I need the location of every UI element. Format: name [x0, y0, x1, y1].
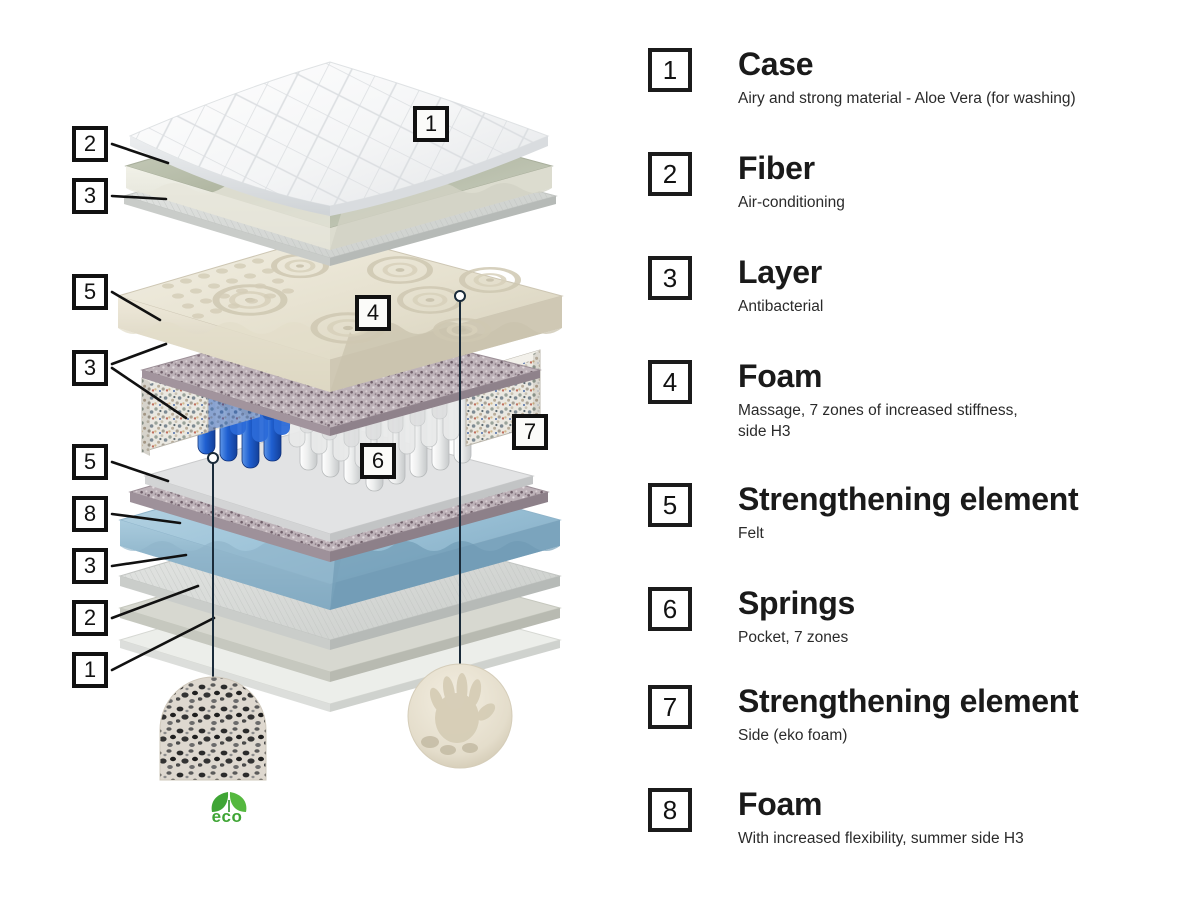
- legend-number-8: 8: [648, 788, 692, 832]
- legend-title-8: Foam: [738, 788, 1024, 820]
- legend-sub-8: With increased flexibility, summer side …: [738, 829, 1024, 850]
- legend-item-7[interactable]: 7 Strengthening element Side (eko foam): [648, 685, 1188, 747]
- callout-art-6[interactable]: 6: [360, 443, 396, 479]
- legend-number-label: 1: [663, 57, 677, 83]
- callout-art-7[interactable]: 7: [512, 414, 548, 450]
- legend-number-label: 8: [663, 797, 677, 823]
- legend-number-4: 4: [648, 360, 692, 404]
- legend-item-3[interactable]: 3 Layer Antibacterial: [648, 256, 1188, 318]
- legend-sub-4: Massage, 7 zones of increased stiffness,…: [738, 401, 1018, 443]
- legend-sub-2: Air-conditioning: [738, 193, 845, 214]
- callout-label: 3: [84, 357, 96, 379]
- legend-number-7: 7: [648, 685, 692, 729]
- legend-text-8: Foam With increased flexibility, summer …: [738, 788, 1024, 850]
- legend-text-4: Foam Massage, 7 zones of increased stiff…: [738, 360, 1018, 443]
- legend-number-2: 2: [648, 152, 692, 196]
- legend-number-label: 2: [663, 161, 677, 187]
- legend-sub-6: Pocket, 7 zones: [738, 628, 855, 649]
- legend-title-4: Foam: [738, 360, 1018, 392]
- callout-left-3b[interactable]: 3: [72, 350, 108, 386]
- callout-left-3a[interactable]: 3: [72, 178, 108, 214]
- callout-label: 4: [367, 302, 379, 324]
- legend-item-2[interactable]: 2 Fiber Air-conditioning: [648, 152, 1188, 214]
- legend-title-1: Case: [738, 48, 1076, 80]
- legend-number-label: 5: [663, 492, 677, 518]
- legend-number-label: 3: [663, 265, 677, 291]
- callout-label: 3: [84, 555, 96, 577]
- legend-title-3: Layer: [738, 256, 823, 288]
- legend-text-1: Case Airy and strong material - Aloe Ver…: [738, 48, 1076, 110]
- legend-title-6: Springs: [738, 587, 855, 619]
- callout-label: 8: [84, 503, 96, 525]
- callout-label: 1: [84, 659, 96, 681]
- callout-label: 2: [84, 133, 96, 155]
- legend-text-5: Strengthening element Felt: [738, 483, 1078, 545]
- callout-label: 5: [84, 281, 96, 303]
- legend-item-8[interactable]: 8 Foam With increased flexibility, summe…: [648, 788, 1188, 850]
- callout-label: 7: [524, 421, 536, 443]
- legend-sub-3: Antibacterial: [738, 297, 823, 318]
- mattress-layer-diagram-page: 2 3 5 3 5 8 3 2 1 1 4 6 7 eco 1 Case Air…: [0, 0, 1200, 899]
- callout-left-5b[interactable]: 5: [72, 444, 108, 480]
- legend-number-5: 5: [648, 483, 692, 527]
- eco-badge: eco: [196, 786, 258, 828]
- legend-number-3: 3: [648, 256, 692, 300]
- legend-title-5: Strengthening element: [738, 483, 1078, 515]
- callout-left-8[interactable]: 8: [72, 496, 108, 532]
- callout-left-3c[interactable]: 3: [72, 548, 108, 584]
- legend-number-6: 6: [648, 587, 692, 631]
- callout-left-5a[interactable]: 5: [72, 274, 108, 310]
- mattress-exploded-diagram: 2 3 5 3 5 8 3 2 1 1 4 6 7 eco: [0, 0, 640, 899]
- callout-label: 2: [84, 607, 96, 629]
- legend-text-7: Strengthening element Side (eko foam): [738, 685, 1078, 747]
- eco-badge-label: eco: [196, 808, 258, 825]
- legend-title-2: Fiber: [738, 152, 845, 184]
- legend-number-label: 4: [663, 369, 677, 395]
- legend-text-3: Layer Antibacterial: [738, 256, 823, 318]
- callout-left-2b[interactable]: 2: [72, 600, 108, 636]
- legend-number-label: 6: [663, 596, 677, 622]
- callout-label: 3: [84, 185, 96, 207]
- callout-label: 1: [425, 113, 437, 135]
- legend-list: 1 Case Airy and strong material - Aloe V…: [648, 40, 1188, 860]
- legend-item-1[interactable]: 1 Case Airy and strong material - Aloe V…: [648, 48, 1188, 110]
- legend-item-4[interactable]: 4 Foam Massage, 7 zones of increased sti…: [648, 360, 1188, 443]
- legend-item-5[interactable]: 5 Strengthening element Felt: [648, 483, 1188, 545]
- legend-item-6[interactable]: 6 Springs Pocket, 7 zones: [648, 587, 1188, 649]
- callout-left-2a[interactable]: 2: [72, 126, 108, 162]
- callout-art-1[interactable]: 1: [413, 106, 449, 142]
- legend-number-label: 7: [663, 694, 677, 720]
- legend-title-7: Strengthening element: [738, 685, 1078, 717]
- legend-text-2: Fiber Air-conditioning: [738, 152, 845, 214]
- legend-sub-7: Side (eko foam): [738, 726, 1078, 747]
- legend-text-6: Springs Pocket, 7 zones: [738, 587, 855, 649]
- callout-art-4[interactable]: 4: [355, 295, 391, 331]
- callout-label: 6: [372, 450, 384, 472]
- legend-sub-5: Felt: [738, 524, 1078, 545]
- callout-left-1[interactable]: 1: [72, 652, 108, 688]
- legend-number-1: 1: [648, 48, 692, 92]
- callout-label: 5: [84, 451, 96, 473]
- legend-sub-1: Airy and strong material - Aloe Vera (fo…: [738, 89, 1076, 110]
